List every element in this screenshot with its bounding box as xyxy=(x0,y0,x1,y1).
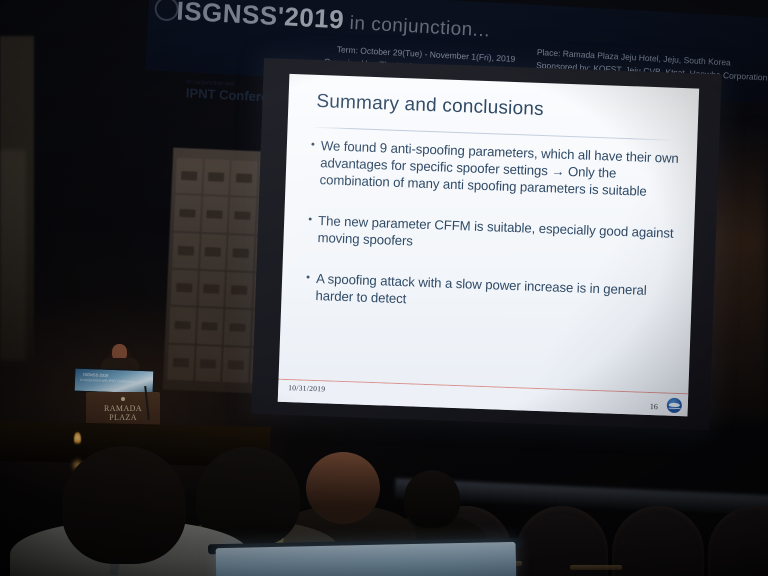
conference-room-photo: ISGNSS'2019 in conjunction... Term: Octo… xyxy=(0,0,768,576)
sponsor-logo xyxy=(196,308,223,344)
candle-light xyxy=(74,432,81,446)
monitor-subtitle: in conjunction with IPNT Conference xyxy=(80,378,135,384)
banner-title-suffix: in conjunction... xyxy=(343,13,490,42)
sponsor-logo xyxy=(229,197,256,233)
slide-page-number: 16 xyxy=(650,402,658,411)
sponsor-logo xyxy=(222,347,249,383)
list-item: • The new parameter CFFM is suitable, es… xyxy=(307,212,680,259)
banner-title: ISGNSS'2019 in conjunction... xyxy=(176,0,491,43)
laptop-screen[interactable] xyxy=(216,542,517,576)
slide-bullet-list: • We found 9 anti-spoofing parameters, w… xyxy=(304,137,683,341)
podium-sign-line2: PLAZA xyxy=(109,413,137,422)
sponsor-logo xyxy=(201,196,228,232)
bullet-text: A spoofing attack with a slow power incr… xyxy=(315,270,678,317)
sponsor-logo xyxy=(227,235,254,271)
seat xyxy=(708,506,768,576)
sponsor-logo xyxy=(224,309,251,345)
sponsor-logo xyxy=(200,234,227,270)
sponsor-logo xyxy=(198,271,225,307)
podium-logo-icon xyxy=(121,397,125,401)
sponsor-logo xyxy=(203,159,230,195)
sponsor-logo xyxy=(172,232,199,268)
sponsor-logo xyxy=(175,158,202,194)
sponsor-logo xyxy=(167,344,194,380)
audience-member-head xyxy=(404,470,460,528)
sponsor-logo xyxy=(169,307,196,343)
monitor-title: ISGNSS 2019 xyxy=(83,372,108,378)
audience-member-head xyxy=(62,446,186,564)
list-item: • A spoofing attack with a slow power in… xyxy=(305,270,678,317)
seat-rail xyxy=(570,565,622,570)
seat xyxy=(612,506,704,576)
sponsor-logo xyxy=(170,270,197,306)
projection-screen: Summary and conclusions • We found 9 ant… xyxy=(251,58,721,430)
institute-globe-logo-icon xyxy=(667,398,683,414)
podium-confidence-monitor: ISGNSS 2019 in conjunction with IPNT Con… xyxy=(74,368,155,395)
podium-sign-line1: RAMADA xyxy=(104,404,142,413)
sponsor-logo xyxy=(195,345,222,381)
bullet-text: We found 9 anti-spoofing parameters, whi… xyxy=(319,137,683,201)
presentation-slide: Summary and conclusions • We found 9 ant… xyxy=(278,74,699,416)
bullet-text: The new parameter CFFM is suitable, espe… xyxy=(317,212,680,259)
left-wall-panel-secondary xyxy=(0,150,26,360)
slide-date: 10/31/2019 xyxy=(288,383,325,393)
banner-title-main: ISGNSS' xyxy=(176,0,285,31)
audience-member-head xyxy=(306,452,380,524)
list-item: • We found 9 anti-spoofing parameters, w… xyxy=(309,137,683,201)
sponsor-logo xyxy=(225,272,252,308)
slide-title: Summary and conclusions xyxy=(316,91,544,121)
sponsor-logo xyxy=(174,195,201,231)
sponsor-logo xyxy=(230,160,257,196)
banner-title-year: 2019 xyxy=(284,1,345,34)
